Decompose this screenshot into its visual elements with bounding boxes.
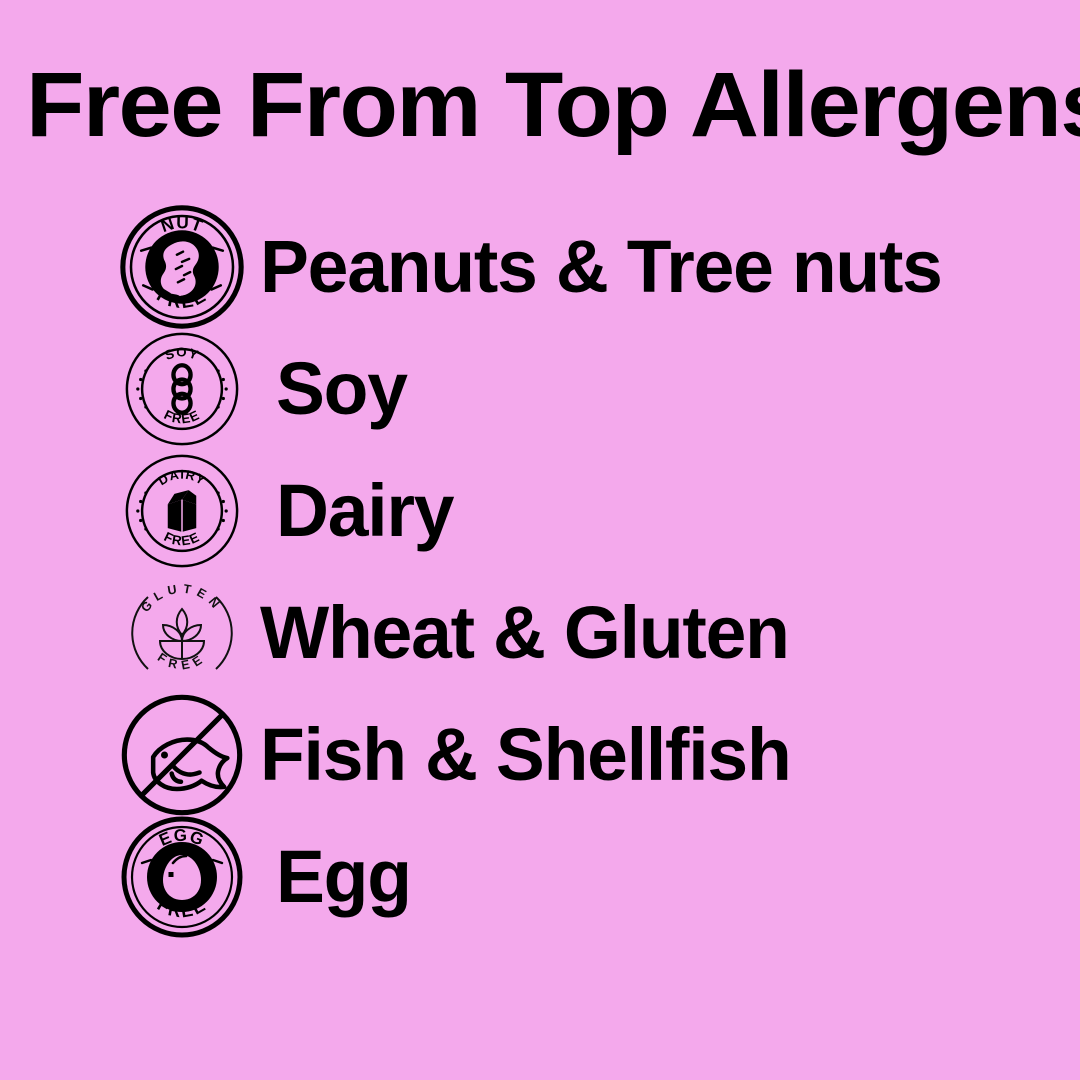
svg-text:FREE: FREE <box>162 407 203 427</box>
dairy-free-badge-bottom-text: FREE <box>162 529 203 549</box>
list-item: DAIRY FREE Dairy <box>0 450 1080 572</box>
soy-free-badge-bottom-text: FREE <box>162 407 203 427</box>
page-title: Free From Top Allergens <box>26 62 1080 148</box>
dairy-free-badge: DAIRY FREE <box>120 449 244 573</box>
list-item: SOY FREE Soy <box>0 328 1080 450</box>
list-item-label: Egg <box>276 840 411 914</box>
list-item: NUT FREE Peanuts & Tree nuts <box>0 206 1080 328</box>
list-item-label: Dairy <box>276 474 453 548</box>
allergen-list: NUT FREE Peanuts & Tree nuts <box>0 206 1080 938</box>
egg-free-badge: EGG FREE <box>120 815 244 939</box>
svg-text:FREE: FREE <box>162 529 203 549</box>
list-item-label: Wheat & Gluten <box>260 596 789 670</box>
soy-free-badge: SOY FREE <box>120 327 244 451</box>
dairy-free-badge-top-text: DAIRY <box>155 467 208 489</box>
list-item: GLUTEN FREE Wheat & Gluten <box>0 572 1080 694</box>
svg-text:SOY: SOY <box>163 345 201 363</box>
fish-free-badge <box>120 693 244 817</box>
gluten-free-badge: GLUTEN FREE <box>120 571 244 695</box>
list-item-label: Soy <box>276 352 407 426</box>
soy-free-badge-top-text: SOY <box>163 345 201 363</box>
list-item-label: Peanuts & Tree nuts <box>260 230 942 304</box>
list-item: EGG FREE Egg <box>0 816 1080 938</box>
nut-free-badge: NUT FREE <box>120 205 244 329</box>
allergen-poster: Free From Top Allergens <box>0 0 1080 1080</box>
list-item: Fish & Shellfish <box>0 694 1080 816</box>
list-item-label: Fish & Shellfish <box>260 718 791 792</box>
svg-text:DAIRY: DAIRY <box>155 467 208 489</box>
